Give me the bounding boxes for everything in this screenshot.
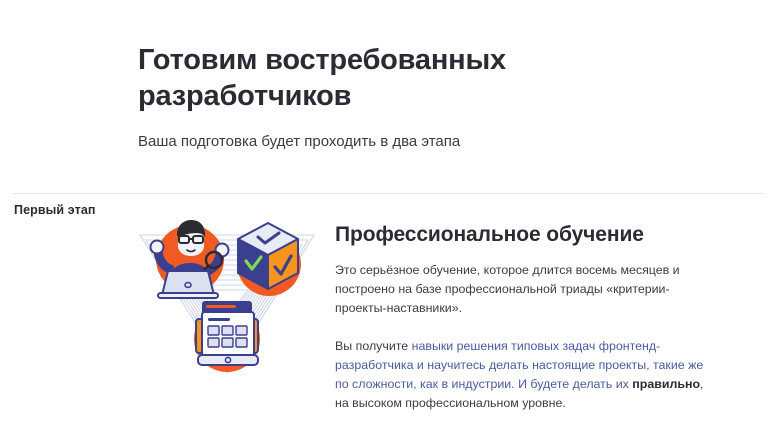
section-divider — [13, 193, 765, 194]
paragraph-2-bold-text: правильно — [632, 377, 700, 391]
person-with-laptop-icon — [151, 220, 229, 298]
paragraph-1-text: Это серьёзное обучение, которое длится в… — [335, 263, 680, 315]
hero-section: Готовим востребованных разработчиков Ваш… — [138, 42, 698, 152]
triad-illustration — [132, 209, 322, 374]
stage-label: Первый этап — [14, 203, 96, 217]
section-paragraph-1: Это серьёзное обучение, которое длится в… — [335, 261, 710, 318]
section-paragraph-2: Вы получите навыки решения типовых задач… — [335, 337, 710, 413]
paragraph-2-lead: Вы получите — [335, 339, 412, 353]
page-title: Готовим востребованных разработчиков — [138, 42, 538, 114]
section-heading: Профессиональное обучение — [335, 222, 710, 248]
stage-content: Профессиональное обучение Это серьёзное … — [335, 222, 710, 413]
tablet-grid-icon — [194, 301, 260, 372]
checkmark-cube-icon — [237, 223, 301, 296]
page-subtitle: Ваша подготовка будет проходить в два эт… — [138, 131, 698, 152]
